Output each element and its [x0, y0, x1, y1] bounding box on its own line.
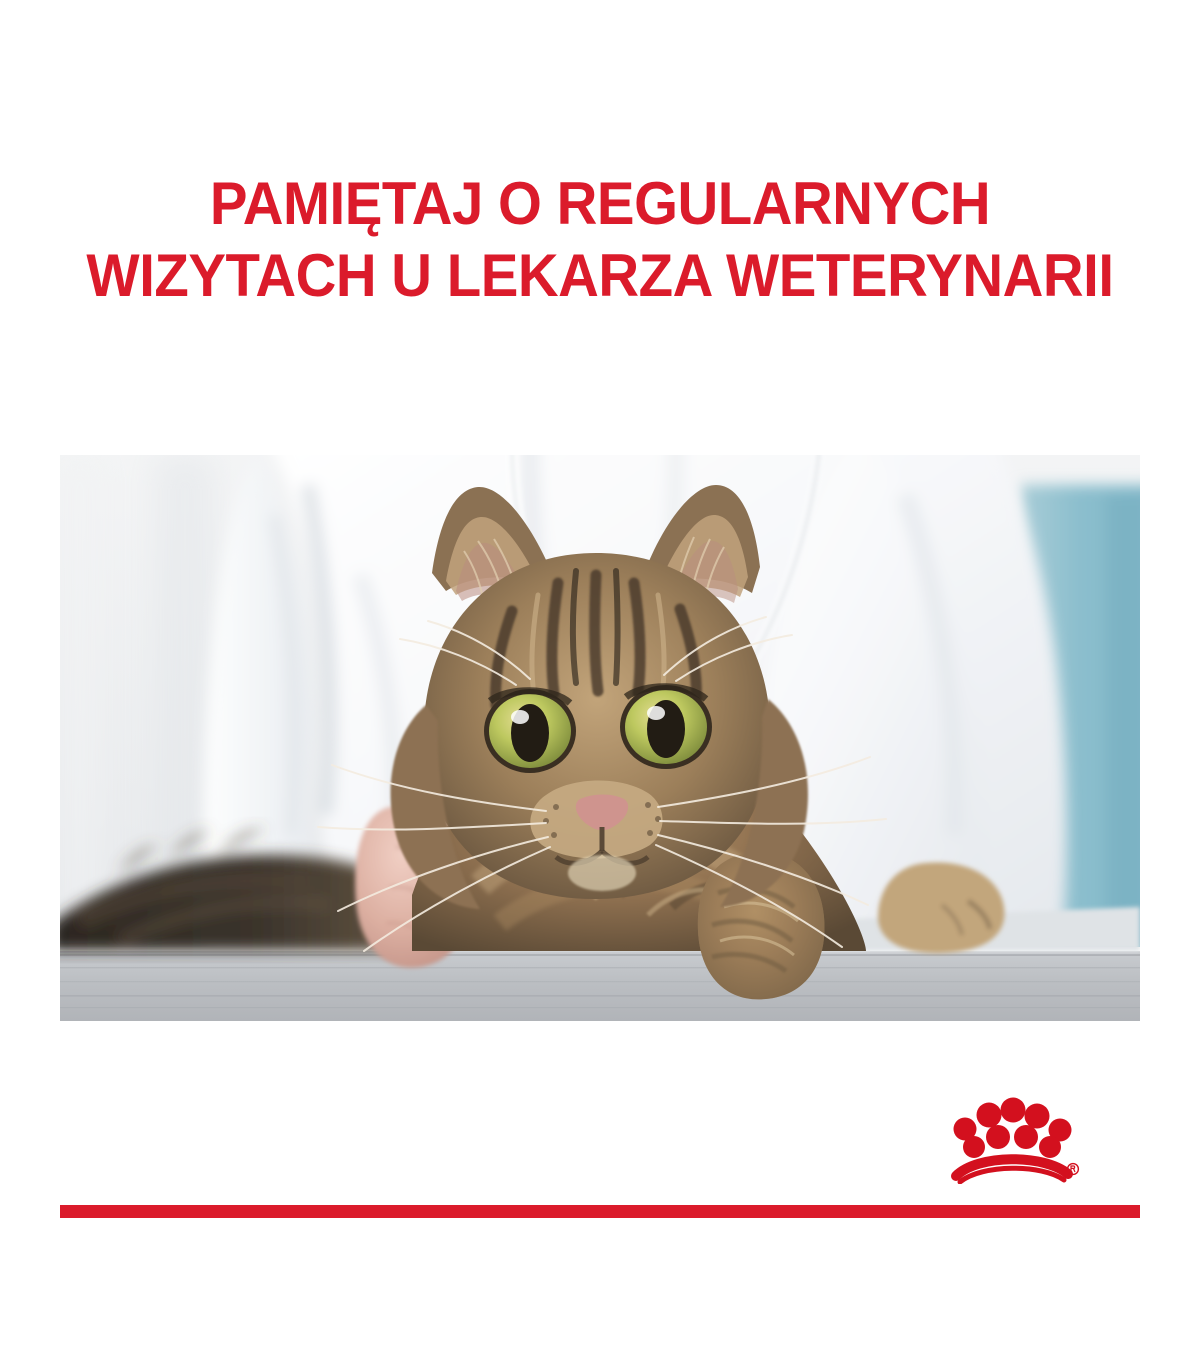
cat-eye-left	[484, 689, 576, 773]
veterinary-cat-photo	[60, 455, 1140, 1042]
headline-line-1: PAMIĘTAJ O REGULARNYCH	[36, 168, 1164, 240]
brand-red-divider	[60, 1205, 1140, 1218]
crown-arcs	[956, 1159, 1068, 1182]
headline-line-2: WIZYTACH U LEKARZA WETERYNARII	[36, 240, 1164, 312]
cat-eye-right	[620, 685, 712, 769]
page-headline: PAMIĘTAJ O REGULARNYCH WIZYTACH U LEKARZ…	[36, 168, 1164, 312]
royal-canin-logo	[930, 1092, 1090, 1184]
crown-dots	[954, 1098, 1072, 1159]
